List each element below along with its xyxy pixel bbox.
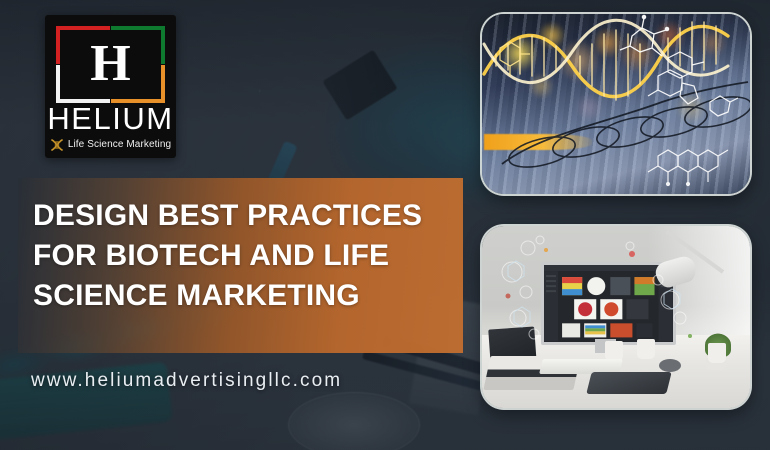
logo-bracket-frame: H <box>56 26 165 103</box>
page-title: Design best practices for biotech and li… <box>33 196 453 316</box>
dna-helix-icon <box>50 138 64 150</box>
science-dna-photo <box>482 14 750 194</box>
dna-and-molecule-overlay <box>482 14 750 194</box>
logo-tagline: Life Science Marketing <box>68 139 171 150</box>
helium-logo[interactable]: H HELIUM Life Science Marketing <box>45 15 176 158</box>
logo-monogram: H <box>56 26 165 103</box>
logo-wordmark: HELIUM <box>45 103 176 134</box>
floating-bubbles-overlay <box>482 226 750 408</box>
marketing-banner: H HELIUM Life Science Marketing <box>0 0 770 450</box>
logo-tagline-row: Life Science Marketing <box>45 138 176 150</box>
design-desk-photo <box>482 226 750 408</box>
website-url[interactable]: www.heliumadvertisingllc.com <box>31 370 342 392</box>
